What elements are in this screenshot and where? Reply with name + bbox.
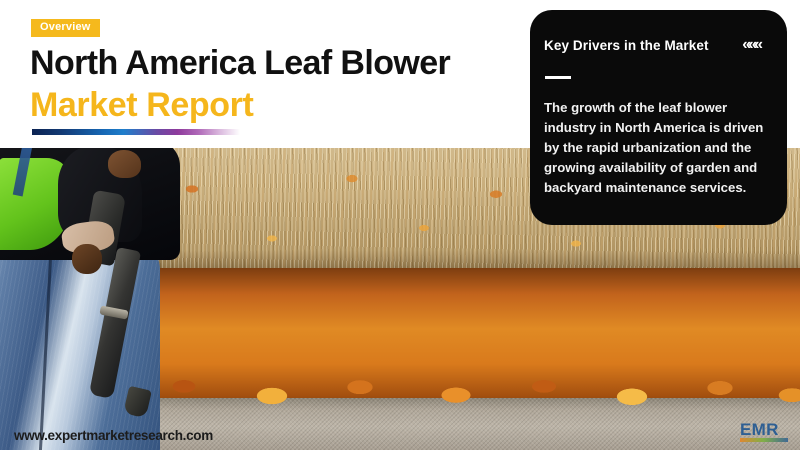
gradient-divider — [32, 129, 240, 135]
website-watermark: www.expertmarketresearch.com — [14, 428, 213, 443]
key-drivers-panel: Key Drivers in the Market ««« The growth… — [530, 10, 787, 225]
page-subtitle: Market Report — [30, 87, 253, 123]
leaf-blower-operator — [0, 140, 215, 450]
market-report-banner: Overview North America Leaf Blower Marke… — [0, 0, 800, 450]
key-drivers-body: The growth of the leaf blower industry i… — [544, 98, 776, 198]
emr-logo: EMR — [740, 421, 792, 446]
emr-logo-text: EMR — [740, 421, 779, 438]
overview-badge: Overview — [31, 19, 100, 37]
key-drivers-header: Key Drivers in the Market ««« — [544, 38, 774, 58]
operator-lower-hand — [72, 244, 102, 274]
operator-upper-hand — [108, 150, 141, 178]
page-title: North America Leaf Blower — [30, 45, 510, 81]
key-drivers-title: Key Drivers in the Market — [544, 38, 709, 53]
title-underline — [545, 76, 571, 79]
chevron-left-triple-icon[interactable]: ««« — [742, 37, 760, 53]
emr-logo-underline — [740, 438, 788, 442]
